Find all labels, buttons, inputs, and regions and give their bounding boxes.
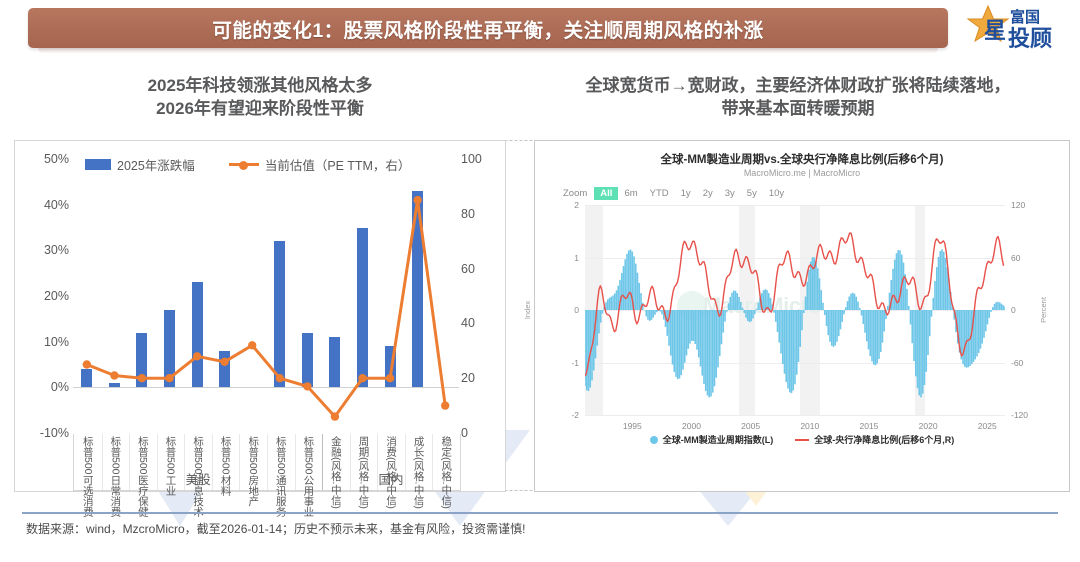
y-axis-tick-left: -10% bbox=[40, 426, 69, 440]
chart-line-marker bbox=[331, 412, 339, 420]
title-banner: 可能的变化1：股票风格阶段性再平衡，关注顺周期风格的补涨 bbox=[28, 8, 948, 48]
y-axis-tick-left: 50% bbox=[44, 152, 69, 166]
y-axis-tick-left: 40% bbox=[44, 198, 69, 212]
right-chart-heading-line2: 带来基本面转暖预期 bbox=[528, 97, 1068, 120]
y-axis-tick-right: -60 bbox=[1011, 358, 1023, 368]
chart-line-marker bbox=[138, 374, 146, 382]
y-axis-tick-right: 20 bbox=[461, 371, 475, 385]
page-header: 可能的变化1：股票风格阶段性再平衡，关注顺周期风格的补涨 星 富国 投顾 bbox=[0, 0, 1080, 56]
svg-text:星: 星 bbox=[984, 18, 1006, 43]
x-axis-tick: 2020 bbox=[919, 421, 938, 431]
macromicro-chart-title: 全球-MM製造业周期vs.全球央行净降息比例(后移6个月) bbox=[535, 151, 1069, 167]
chart-line-marker bbox=[165, 374, 173, 382]
chart-line-marker bbox=[413, 196, 421, 204]
chart-line-marker bbox=[220, 358, 228, 366]
chart-line-marker bbox=[83, 360, 91, 368]
left-chart-heading-line2: 2026年有望迎来阶段性平衡 bbox=[20, 97, 500, 120]
y-axis-tick-right: 40 bbox=[461, 316, 475, 330]
svg-text:富国: 富国 bbox=[1010, 8, 1040, 26]
y-axis-tick-right: 0 bbox=[461, 426, 468, 440]
chart-line-series bbox=[73, 159, 459, 433]
page-title: 可能的变化1：股票风格阶段性再平衡，关注顺周期风格的补涨 bbox=[28, 8, 948, 48]
legend-dash-swatch bbox=[795, 439, 809, 441]
chart-line-marker bbox=[110, 371, 118, 379]
brand-logo: 星 富国 投顾 bbox=[962, 4, 1066, 52]
x-axis-tick: 2000 bbox=[682, 421, 701, 431]
y-axis-tick-right: 60 bbox=[1011, 253, 1020, 263]
macromicro-plot-area: 210-1-2120600-60-120IndexPercent19952000… bbox=[585, 205, 1005, 415]
zoom-option-2y[interactable]: 2y bbox=[697, 187, 719, 200]
legend-mm-ratecut-label: 全球-央行净降息比例(后移6个月,R) bbox=[814, 433, 954, 446]
y-axis-title-left: Index bbox=[523, 301, 532, 319]
y-axis-title-right: Percent bbox=[1039, 297, 1048, 323]
y-axis-tick-right: 60 bbox=[461, 262, 475, 276]
x-axis-tick: 2025 bbox=[978, 421, 997, 431]
zoom-option-5y[interactable]: 5y bbox=[741, 187, 763, 200]
left-chart-y-axis-right: 100806040200 bbox=[461, 141, 499, 491]
svg-text:投顾: 投顾 bbox=[1008, 26, 1052, 51]
y-axis-tick-right: 80 bbox=[461, 207, 475, 221]
footer-note: 数据来源：wind，MzcroMicro，截至2026-01-14；历史不预示未… bbox=[26, 520, 1046, 537]
legend-dot-swatch bbox=[650, 436, 658, 444]
macromicro-series bbox=[585, 205, 1005, 415]
grid-line bbox=[585, 415, 1005, 416]
chart-line-marker bbox=[276, 374, 284, 382]
zoom-label: Zoom bbox=[563, 188, 587, 199]
left-chart-heading-line1: 2025年科技领涨其他风格太多 bbox=[20, 74, 500, 97]
group-axis-label: 国内 bbox=[322, 469, 460, 488]
group-axis-label: 美股 bbox=[74, 469, 322, 488]
right-chart-heading-line1: 全球宽货币→宽财政，主要经济体财政扩张将陆续落地， bbox=[528, 74, 1068, 97]
zoom-option-10y[interactable]: 10y bbox=[763, 187, 790, 200]
chart-line-marker bbox=[386, 374, 394, 382]
left-chart-y-axis-left: 50%40%30%20%10%0%-10% bbox=[21, 141, 69, 491]
zoom-range-toolbar[interactable]: Zoom All6mYTD1y2y3y5y10y bbox=[563, 187, 790, 200]
y-axis-tick-left: 10% bbox=[44, 335, 69, 349]
macromicro-source-label: MacroMicro.me | MacroMicro bbox=[535, 168, 1069, 178]
zoom-option-1y[interactable]: 1y bbox=[675, 187, 697, 200]
y-axis-tick-left: 20% bbox=[44, 289, 69, 303]
left-chart-heading: 2025年科技领涨其他风格太多 2026年有望迎来阶段性平衡 bbox=[20, 74, 500, 120]
y-axis-tick-left: 2 bbox=[541, 200, 579, 210]
zoom-option-3y[interactable]: 3y bbox=[719, 187, 741, 200]
chart-line-marker bbox=[248, 341, 256, 349]
left-chart-category-axis: 标普500可选消费标普500日常消费标普500医疗保健标普500工业标普500信… bbox=[73, 434, 461, 491]
y-axis-tick-right: 0 bbox=[1011, 305, 1016, 315]
y-axis-tick-left: 1 bbox=[541, 253, 579, 263]
x-axis-tick: 2015 bbox=[859, 421, 878, 431]
x-axis-tick: 1995 bbox=[623, 421, 642, 431]
y-axis-tick-right: -120 bbox=[1011, 410, 1028, 420]
zoom-option-ytd[interactable]: YTD bbox=[644, 187, 675, 200]
left-chart-plot-area bbox=[73, 159, 459, 433]
macromicro-legend: 全球-MM製造业周期指数(L) 全球-央行净降息比例(后移6个月,R) bbox=[535, 433, 1069, 446]
legend-item-mm-index: 全球-MM製造业周期指数(L) bbox=[650, 433, 773, 446]
chart-line-marker bbox=[193, 352, 201, 360]
zoom-option-6m[interactable]: 6m bbox=[618, 187, 643, 200]
chart-line-marker bbox=[303, 382, 311, 390]
y-axis-tick-left: -2 bbox=[541, 410, 579, 420]
y-axis-tick-left: 30% bbox=[44, 243, 69, 257]
legend-mm-index-label: 全球-MM製造业周期指数(L) bbox=[663, 433, 773, 446]
left-chart-panel: 2025年涨跌幅 当前估值（PE TTM，右） 50%40%30%20%10%0… bbox=[14, 140, 506, 492]
y-axis-tick-right: 120 bbox=[1011, 200, 1025, 210]
y-axis-tick-left: 0% bbox=[51, 380, 69, 394]
legend-item-mm-ratecut: 全球-央行净降息比例(后移6个月,R) bbox=[795, 433, 954, 446]
chart-line-marker bbox=[358, 374, 366, 382]
right-chart-panel: 全球-MM製造业周期vs.全球央行净降息比例(后移6个月) MacroMicro… bbox=[534, 140, 1070, 492]
x-axis-tick: 2010 bbox=[800, 421, 819, 431]
x-axis-tick: 2005 bbox=[741, 421, 760, 431]
y-axis-tick-right: 100 bbox=[461, 152, 482, 166]
y-axis-tick-left: 0 bbox=[541, 305, 579, 315]
y-axis-tick-left: -1 bbox=[541, 358, 579, 368]
chart-line-marker bbox=[441, 401, 449, 409]
right-chart-heading: 全球宽货币→宽财政，主要经济体财政扩张将陆续落地， 带来基本面转暖预期 bbox=[528, 74, 1068, 120]
zoom-option-all[interactable]: All bbox=[594, 187, 618, 200]
footer-rule bbox=[22, 512, 1058, 514]
